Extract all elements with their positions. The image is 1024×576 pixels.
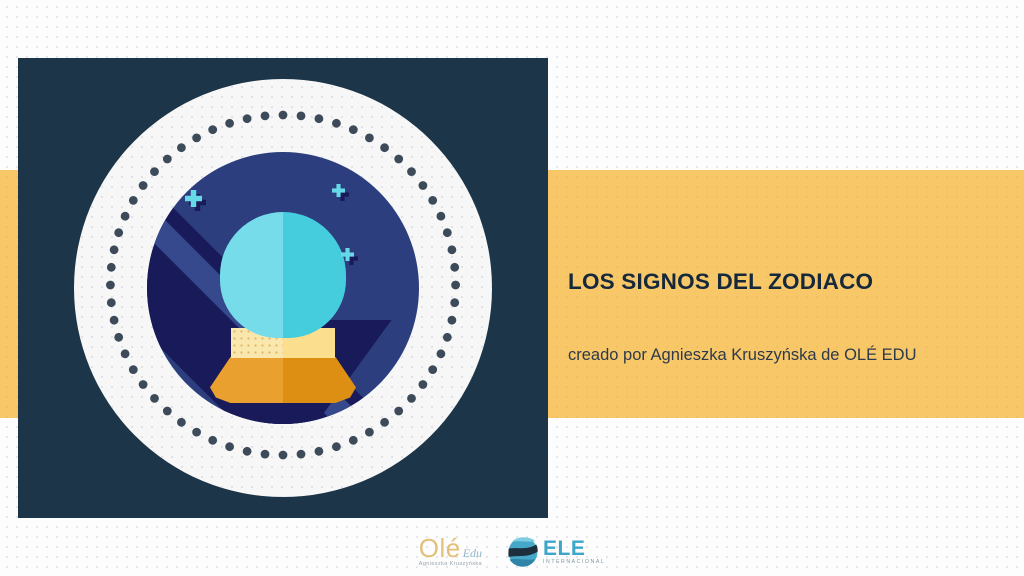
ele-wordmark: ELE INTERNACIONAL bbox=[543, 539, 605, 566]
slide-text-block: LOS SIGNOS DEL ZODIACO creado por Agnies… bbox=[568, 268, 998, 366]
ele-word: ELE bbox=[543, 539, 585, 560]
ole-edu-wordmark: Olé Edu bbox=[419, 536, 482, 561]
ele-internacional-logo: ELE INTERNACIONAL bbox=[508, 537, 605, 567]
globe-icon bbox=[508, 537, 538, 567]
ole-edu-script: Edu bbox=[463, 547, 482, 561]
footer-logo-row: Olé Edu Agnieszka Kruszyńska ELE INTERNA… bbox=[0, 528, 1024, 576]
sparkle-icon-top-right bbox=[332, 184, 345, 197]
sparkle-icon-left bbox=[185, 190, 202, 207]
slide-subtitle: creado por Agnieszka Kruszyńska de OLÉ E… bbox=[568, 295, 998, 366]
sphere-right-half bbox=[283, 212, 346, 338]
presentation-slide: LOS SIGNOS DEL ZODIACO creado por Agnies… bbox=[0, 0, 1024, 576]
sphere-left-half bbox=[220, 212, 283, 338]
crystal-ball-sphere bbox=[220, 212, 346, 338]
ole-author-name: Agnieszka Kruszyńska bbox=[419, 562, 482, 568]
inner-blue-circle bbox=[147, 152, 419, 424]
crystal-ball-base bbox=[210, 357, 356, 403]
ele-subtitle: INTERNACIONAL bbox=[543, 559, 605, 565]
page-title: LOS SIGNOS DEL ZODIACO bbox=[568, 268, 998, 295]
ole-edu-logo: Olé Edu Agnieszka Kruszyńska bbox=[419, 536, 482, 567]
ole-word: Olé bbox=[419, 536, 461, 561]
crystal-ball-illustration bbox=[18, 58, 548, 518]
